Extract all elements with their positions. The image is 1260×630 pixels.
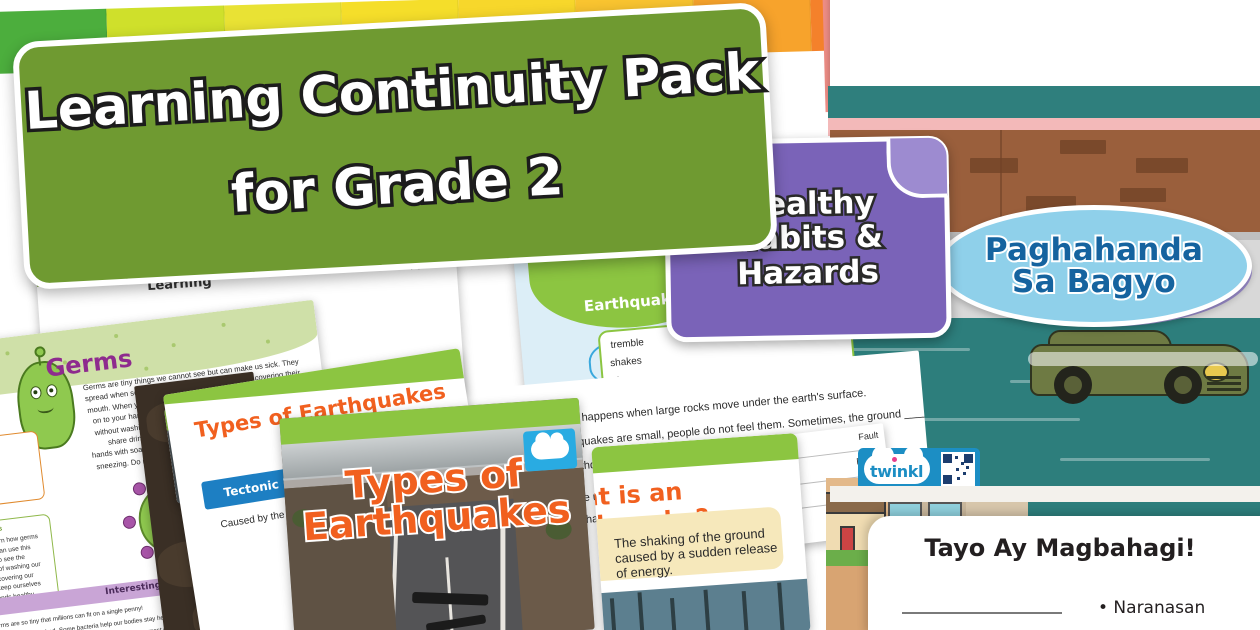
what-is-an-earthquake-card: What is an Earthquake? The shaking of th… [591,433,810,630]
types-of-earthquakes-cover-card: Types of Earthquakes [279,398,594,630]
palm-trees-photo [591,578,810,630]
title-line-2: for Grade 2 [25,136,769,236]
water-foam [1028,352,1258,366]
purple-line-3: Hazards [737,255,879,291]
what-card-note: The shaking of the ground caused by a su… [591,506,784,583]
tayo-card-bullet: • Naranasan [1098,598,1205,618]
main-title-banner: Learning Continuity Pack for Grade 2 [12,2,778,290]
paghahanda-sa-bagyo-banner: Paghahanda Sa Bagyo [936,205,1252,327]
oval-line-1: Paghahanda [985,234,1203,266]
what-card-note-text: The shaking of the ground caused by a su… [614,524,785,581]
white-divider-strip [830,486,1260,502]
word-bank-item: tremble [610,337,644,351]
car-in-flood-icon [1030,330,1245,402]
twinkl-wordmark: twinkl [870,462,923,481]
twinkl-badge-with-qr: twinkl [858,448,980,490]
word-bank-item: shakes [610,355,643,369]
resource-collage: Paghahanda Sa Bagyo Earthquakes tremble … [0,0,1260,630]
qr-code-icon [941,452,975,486]
oval-line-2: Sa Bagyo [1012,266,1176,298]
tayo-ay-magbahagi-card: Tayo Ay Magbahagi! • Naranasan [868,516,1260,630]
tayo-card-title: Tayo Ay Magbahagi! [868,534,1252,562]
twinkl-badge [523,428,578,472]
flood-water-strip [828,86,1260,121]
title-line-1: Learning Continuity Pack [20,42,764,142]
plates-label: Fault [858,430,879,442]
answer-line [902,612,1062,614]
vocabulary-item: sneezing [0,486,38,505]
